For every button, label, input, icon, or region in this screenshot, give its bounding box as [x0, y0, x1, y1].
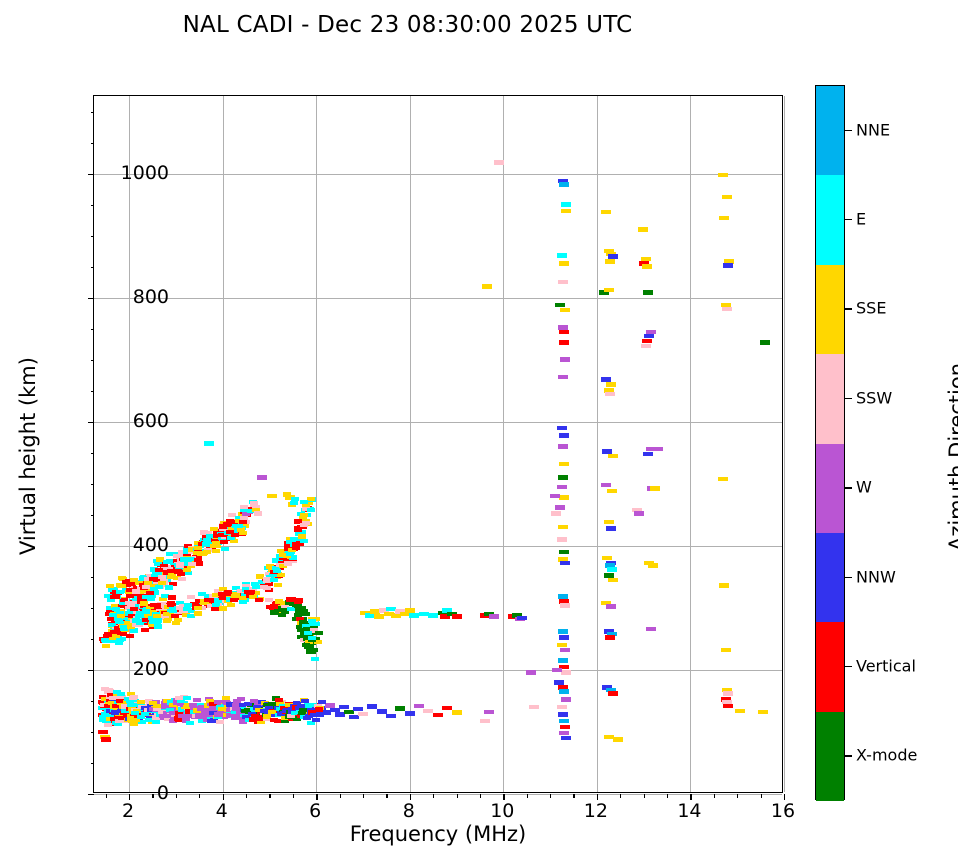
echo-mark: [559, 182, 569, 187]
echo-mark: [183, 607, 191, 611]
echo-mark: [240, 505, 248, 509]
echo-mark: [183, 696, 191, 700]
echo-mark: [221, 547, 229, 551]
echo-mark: [558, 444, 568, 449]
echo-mark: [452, 614, 462, 619]
x-tick-label: 6: [309, 800, 321, 822]
echo-mark: [643, 290, 653, 295]
echo-mark: [153, 614, 161, 618]
echo-mark: [642, 264, 652, 269]
echo-mark: [126, 634, 134, 638]
echo-mark: [641, 344, 651, 349]
echo-mark: [194, 606, 202, 610]
echo-mark: [106, 584, 114, 588]
echo-mark: [395, 706, 405, 711]
colorbar-label-ssw: SSW: [856, 388, 892, 407]
echo-mark: [561, 202, 571, 207]
y-tick: [88, 422, 94, 423]
y-tick-label: 1000: [121, 162, 169, 184]
echo-mark: [237, 697, 245, 701]
echo-mark: [561, 670, 571, 675]
x-tick-label: 2: [122, 800, 134, 822]
echo-mark: [557, 253, 567, 258]
y-tick-label: 800: [133, 286, 169, 308]
echo-mark: [561, 736, 571, 741]
echo-mark: [308, 619, 316, 623]
echo-mark: [315, 631, 323, 635]
echo-mark: [559, 731, 569, 736]
colorbar-label-nne: NNE: [856, 120, 890, 139]
colorbar-segment-ssw[interactable]: [816, 354, 844, 443]
colorbar-segment-vertical[interactable]: [816, 622, 844, 711]
echo-mark: [204, 598, 212, 602]
colorbar-segment-nne[interactable]: [816, 86, 844, 175]
echo-mark: [558, 525, 568, 530]
echo-mark: [152, 720, 160, 724]
colorbar-segment-w[interactable]: [816, 444, 844, 533]
echo-mark: [325, 703, 335, 708]
y-tick-label: 0: [157, 782, 169, 804]
echo-mark: [561, 209, 571, 214]
x-minor-tick: [480, 794, 481, 798]
colorbar-tick: [845, 666, 852, 667]
echo-mark: [526, 670, 536, 675]
y-minor-tick: [91, 701, 95, 702]
y-minor-tick: [91, 267, 95, 268]
echo-mark: [257, 475, 267, 480]
x-minor-tick: [293, 794, 294, 798]
echo-mark: [102, 644, 110, 648]
azimuth-colorbar[interactable]: [815, 85, 845, 800]
echo-mark: [318, 700, 326, 704]
echo-mark: [551, 511, 561, 516]
echo-mark: [309, 622, 317, 626]
y-tick-label: 200: [133, 658, 169, 680]
echo-mark: [607, 489, 617, 494]
echo-mark: [558, 280, 568, 285]
echo-mark: [552, 668, 562, 673]
echo-mark: [561, 697, 571, 702]
echo-mark: [132, 589, 140, 593]
colorbar-tick: [845, 130, 852, 131]
echo-mark: [275, 698, 283, 702]
colorbar-tick: [845, 219, 852, 220]
echo-mark: [558, 594, 568, 599]
echo-mark: [604, 288, 614, 293]
x-minor-tick: [714, 794, 715, 798]
y-tick: [88, 298, 94, 299]
echo-mark: [294, 526, 302, 530]
echo-mark: [480, 719, 490, 724]
y-tick-label: 600: [133, 410, 169, 432]
echo-mark: [165, 585, 173, 589]
echo-mark: [216, 720, 224, 724]
x-minor-tick: [573, 794, 574, 798]
echo-mark: [186, 721, 194, 725]
echo-mark: [140, 601, 148, 605]
echo-mark: [386, 714, 396, 719]
echo-mark: [270, 604, 278, 608]
echo-mark: [608, 454, 618, 459]
echo-mark: [607, 567, 617, 572]
y-minor-tick: [91, 236, 95, 237]
x-minor-tick: [340, 794, 341, 798]
echo-mark: [231, 716, 239, 720]
y-minor-tick: [91, 112, 95, 113]
echo-mark: [557, 426, 567, 431]
echo-mark: [433, 713, 443, 718]
echo-mark: [155, 568, 163, 572]
x-minor-tick: [269, 794, 270, 798]
echo-mark: [489, 614, 499, 619]
echo-mark: [270, 610, 278, 614]
colorbar-title: Azimuth Direction: [945, 297, 958, 617]
echo-mark: [559, 719, 569, 724]
echo-mark: [113, 690, 121, 694]
echo-mark: [602, 556, 612, 561]
echo-mark: [207, 719, 215, 723]
colorbar-segment-x-mode[interactable]: [816, 712, 844, 801]
echo-mark: [260, 585, 268, 589]
echo-mark: [154, 624, 162, 628]
echo-mark: [174, 569, 182, 573]
colorbar-segment-e[interactable]: [816, 175, 844, 264]
colorbar-tick: [845, 577, 852, 578]
y-minor-tick: [91, 639, 95, 640]
echo-mark: [339, 705, 349, 710]
echo-mark: [299, 620, 307, 624]
y-tick: [88, 670, 94, 671]
echo-mark: [719, 583, 729, 588]
echo-mark: [560, 603, 570, 608]
y-minor-tick: [91, 515, 95, 516]
echo-mark: [558, 712, 568, 717]
echo-mark: [558, 629, 568, 634]
x-minor-tick: [152, 794, 153, 798]
echo-mark: [555, 303, 565, 308]
echo-mark: [558, 325, 568, 330]
x-minor-tick: [737, 794, 738, 798]
echo-mark: [101, 687, 109, 691]
echo-mark: [452, 710, 462, 715]
echo-mark: [494, 160, 504, 165]
echo-mark: [442, 706, 452, 711]
echo-mark: [559, 462, 569, 467]
echo-mark: [265, 598, 273, 602]
colorbar-tick: [845, 755, 852, 756]
y-minor-tick: [91, 143, 95, 144]
echo-mark: [550, 494, 560, 499]
echo-mark: [558, 375, 568, 380]
echo-mark: [104, 723, 112, 727]
echo-mark: [270, 718, 278, 722]
x-minor-tick: [106, 794, 107, 798]
echo-mark: [558, 475, 568, 480]
echo-mark: [142, 609, 150, 613]
echo-mark: [172, 621, 180, 625]
echo-mark: [722, 195, 732, 200]
echo-mark: [606, 382, 616, 387]
echo-mark: [642, 339, 652, 344]
colorbar-label-nnw: NNW: [856, 567, 896, 586]
echo-mark: [301, 699, 309, 703]
echo-mark: [187, 595, 195, 599]
echo-mark: [175, 696, 183, 700]
echo-mark: [601, 483, 611, 488]
x-tick-label: 12: [584, 800, 608, 822]
colorbar-tick: [845, 398, 852, 399]
echo-mark: [559, 635, 569, 640]
echo-mark: [302, 612, 310, 616]
y-axis-title: Virtual height (km): [16, 296, 40, 616]
y-tick: [88, 794, 94, 795]
colorbar-segment-nnw[interactable]: [816, 533, 844, 622]
echo-mark: [300, 513, 308, 517]
echo-mark: [111, 710, 119, 714]
echo-mark: [141, 628, 149, 632]
x-minor-tick: [199, 794, 200, 798]
echo-mark: [126, 594, 134, 598]
echo-mark: [255, 598, 263, 602]
echo-mark: [559, 330, 569, 335]
echo-mark: [219, 606, 227, 610]
echo-mark: [171, 614, 179, 618]
echo-mark: [638, 227, 648, 232]
echo-mark: [311, 657, 319, 661]
echo-mark: [353, 707, 363, 712]
x-minor-tick: [246, 794, 247, 798]
echo-mark: [188, 562, 196, 566]
echo-mark: [130, 607, 138, 611]
echo-mark: [605, 259, 615, 264]
echo-mark: [517, 616, 527, 621]
echo-mark: [210, 527, 218, 531]
echo-mark: [283, 492, 291, 496]
x-tick-label: 4: [216, 800, 228, 822]
echo-mark: [315, 713, 323, 717]
echo-mark: [718, 173, 728, 178]
y-minor-tick: [91, 453, 95, 454]
echo-mark: [153, 704, 161, 708]
echo-mark: [405, 711, 415, 716]
echo-mark: [601, 210, 611, 215]
echo-mark: [358, 712, 368, 717]
echo-mark: [307, 508, 315, 512]
echo-mark: [554, 680, 564, 685]
echo-mark: [484, 710, 494, 715]
echo-mark: [274, 583, 282, 587]
echo-mark: [758, 710, 768, 715]
page-title: NAL CADI - Dec 23 08:30:00 2025 UTC: [0, 12, 815, 38]
x-minor-tick: [667, 794, 668, 798]
echo-mark: [648, 563, 658, 568]
echo-mark: [116, 638, 124, 642]
x-minor-tick: [457, 794, 458, 798]
echo-mark: [735, 709, 745, 714]
echo-mark: [606, 604, 616, 609]
colorbar-label-w: W: [856, 478, 872, 497]
y-tick: [88, 546, 94, 547]
echo-mark: [294, 604, 302, 608]
echo-mark: [557, 485, 567, 490]
y-minor-tick: [91, 608, 95, 609]
echo-mark: [211, 607, 219, 611]
y-minor-tick: [91, 329, 95, 330]
echo-mark: [560, 648, 570, 653]
echo-mark: [116, 590, 124, 594]
echo-mark: [559, 340, 569, 345]
echo-mark: [254, 511, 262, 515]
echo-mark: [98, 730, 108, 735]
echo-mark: [142, 585, 150, 589]
colorbar-segment-sse[interactable]: [816, 265, 844, 354]
x-minor-tick: [644, 794, 645, 798]
echo-mark: [277, 573, 285, 577]
y-tick: [88, 174, 94, 175]
grid-line-vertical: [784, 96, 785, 792]
echo-mark: [559, 550, 569, 555]
echo-mark: [223, 522, 231, 526]
echo-mark: [557, 537, 567, 542]
colorbar-tick: [845, 308, 852, 309]
echo-mark: [559, 689, 569, 694]
y-minor-tick: [91, 360, 95, 361]
echo-mark: [304, 645, 312, 649]
x-tick-label: 16: [771, 800, 795, 822]
x-minor-tick: [527, 794, 528, 798]
echo-mark: [608, 578, 618, 583]
echo-mark: [606, 526, 616, 531]
echo-mark: [723, 691, 733, 696]
echo-mark: [560, 357, 570, 362]
echo-mark: [605, 392, 615, 397]
echo-mark: [198, 592, 206, 596]
echo-mark: [300, 500, 308, 504]
echo-mark: [250, 501, 258, 505]
echo-mark: [405, 608, 415, 613]
echo-mark: [212, 549, 220, 553]
echo-mark: [227, 603, 235, 607]
x-minor-tick: [363, 794, 364, 798]
x-minor-tick: [620, 794, 621, 798]
x-minor-tick: [550, 794, 551, 798]
echo-mark: [650, 486, 660, 491]
echo-mark: [559, 261, 569, 266]
echo-mark: [203, 550, 211, 554]
y-minor-tick: [91, 391, 95, 392]
x-minor-tick: [433, 794, 434, 798]
echo-mark: [235, 524, 243, 528]
echo-mark: [242, 512, 250, 516]
echo-mark: [252, 585, 260, 589]
echo-mark: [270, 578, 278, 582]
echo-mark: [559, 433, 569, 438]
echo-mark: [605, 635, 615, 640]
echo-scatter-layer: [94, 96, 782, 792]
echo-mark: [718, 477, 728, 482]
echo-mark: [559, 495, 569, 500]
echo-mark: [601, 377, 611, 382]
y-minor-tick: [91, 205, 95, 206]
grid-line-horizontal: [94, 794, 782, 795]
echo-mark: [194, 611, 202, 615]
y-minor-tick: [91, 732, 95, 733]
echo-mark: [560, 725, 570, 730]
echo-mark: [653, 447, 663, 452]
echo-mark: [312, 718, 320, 722]
echo-mark: [267, 494, 277, 499]
echo-mark: [721, 648, 731, 653]
echo-mark: [608, 691, 618, 696]
echo-mark: [150, 587, 158, 591]
echo-mark: [220, 540, 228, 544]
echo-mark: [295, 598, 303, 602]
ionogram-plot: [93, 95, 783, 793]
echo-mark: [613, 737, 623, 742]
echo-mark: [212, 541, 220, 545]
x-minor-tick: [386, 794, 387, 798]
colorbar-label-x-mode: X-mode: [856, 746, 917, 765]
echo-mark: [183, 568, 191, 572]
echo-mark: [719, 216, 729, 221]
echo-mark: [300, 523, 308, 527]
echo-mark: [646, 627, 656, 632]
colorbar-label-sse: SSE: [856, 299, 886, 318]
echo-mark: [178, 577, 186, 581]
colorbar-label-vertical: Vertical: [856, 656, 916, 675]
echo-mark: [560, 561, 570, 566]
echo-mark: [414, 704, 424, 709]
echo-mark: [529, 705, 539, 710]
echo-mark: [558, 658, 568, 663]
y-tick-label: 400: [133, 534, 169, 556]
echo-mark: [286, 551, 294, 555]
echo-mark: [557, 705, 567, 710]
x-minor-tick: [761, 794, 762, 798]
echo-mark: [308, 636, 316, 640]
x-minor-tick: [176, 794, 177, 798]
echo-mark: [482, 284, 492, 289]
echo-mark: [608, 254, 618, 259]
echo-mark: [555, 505, 565, 510]
echo-mark: [193, 698, 201, 702]
colorbar-tick: [845, 487, 852, 488]
echo-mark: [163, 560, 171, 564]
echo-mark: [723, 704, 733, 709]
echo-mark: [168, 595, 176, 599]
x-tick-label: 10: [490, 800, 514, 822]
echo-mark: [230, 598, 238, 602]
colorbar-label-e: E: [856, 210, 866, 229]
echo-mark: [643, 452, 653, 457]
echo-mark: [604, 520, 614, 525]
y-minor-tick: [91, 763, 95, 764]
x-tick-label: 8: [403, 800, 415, 822]
echo-mark: [291, 497, 299, 501]
echo-mark: [644, 334, 654, 339]
echo-mark: [722, 307, 732, 312]
echo-mark: [239, 520, 247, 524]
echo-mark: [367, 704, 377, 709]
echo-mark: [560, 308, 570, 313]
echo-mark: [101, 737, 111, 742]
echo-mark: [204, 441, 214, 446]
echo-mark: [147, 597, 155, 601]
echo-mark: [117, 614, 125, 618]
echo-mark: [723, 263, 733, 268]
y-minor-tick: [91, 577, 95, 578]
echo-mark: [760, 340, 770, 345]
